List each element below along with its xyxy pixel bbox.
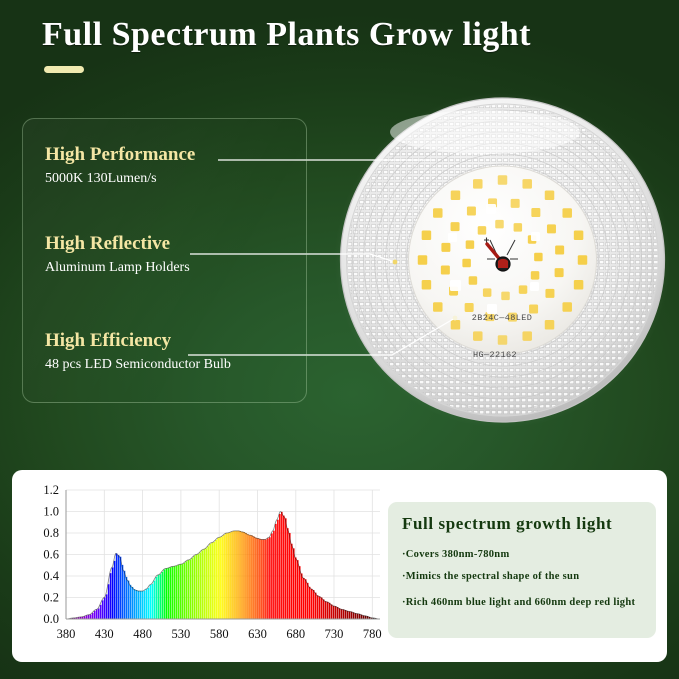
info-box-title: Full spectrum growth light (402, 514, 642, 534)
led-chip (522, 179, 532, 189)
led-chip (451, 222, 460, 231)
led-chip (545, 289, 554, 298)
feature-subtitle: Aluminum Lamp Holders (45, 260, 190, 275)
board-model-label: 2B24C—48LED (472, 313, 533, 323)
spectrum-chart: 0.00.20.40.60.81.01.23804304805305806306… (22, 478, 392, 653)
led-chip (555, 268, 564, 277)
led-chip (519, 285, 528, 294)
lamp-highlight (390, 110, 580, 154)
led-chip (514, 223, 523, 232)
led-chip (441, 243, 450, 252)
led-chip (473, 331, 483, 341)
led-chip (531, 208, 540, 217)
product-infographic: Full Spectrum Plants Grow light (0, 0, 679, 679)
y-axis-tick-label: 0.4 (43, 569, 59, 583)
led-chip (462, 259, 471, 268)
led-chip (422, 280, 432, 290)
info-bullet: ·Covers 380nm-780nm (402, 549, 642, 560)
y-axis-tick-label: 0.0 (43, 612, 59, 626)
led-chip (451, 320, 461, 330)
feature-item-efficiency: High Efficiency 48 pcs LED Semiconductor… (45, 331, 231, 372)
x-axis-tick-label: 630 (248, 627, 267, 641)
spectrum-chart-svg: 0.00.20.40.60.81.01.23804304805305806306… (22, 478, 392, 653)
led-chip (451, 191, 461, 201)
led-chip (547, 224, 556, 233)
y-axis-tick-label: 0.2 (43, 591, 59, 605)
feature-subtitle: 5000K 130Lumen/s (45, 171, 195, 186)
board-code-label: HG—22162 (473, 350, 517, 360)
led-chip (473, 179, 483, 189)
info-box: Full spectrum growth light ·Covers 380nm… (388, 502, 656, 638)
led-chip (433, 208, 443, 218)
led-chip (478, 226, 487, 235)
x-axis-tick-label: 380 (57, 627, 76, 641)
x-axis-tick-label: 530 (172, 627, 191, 641)
feature-title: High Performance (45, 145, 195, 166)
lamp-svg: 2B24C—48LED HG—22162 (335, 92, 670, 427)
led-chip (498, 175, 508, 185)
led-chip (495, 220, 504, 229)
info-bullet: ·Rich 460nm blue light and 660nm deep re… (402, 597, 642, 608)
feature-subtitle: 48 pcs LED Semiconductor Bulb (45, 357, 231, 372)
x-axis-tick-label: 730 (325, 627, 344, 641)
x-axis-tick-label: 580 (210, 627, 229, 641)
led-chip (531, 271, 540, 280)
led-chip (422, 231, 432, 241)
led-chip (433, 302, 443, 312)
feature-item-reflective: High Reflective Aluminum Lamp Holders (45, 234, 190, 275)
led-chip (545, 191, 555, 201)
led-chip (465, 303, 474, 312)
led-chip (522, 331, 532, 341)
led-chip (574, 280, 584, 290)
y-axis-tick-label: 1.2 (43, 483, 59, 497)
led-chip (467, 207, 476, 216)
y-axis-tick-label: 0.6 (43, 548, 59, 562)
led-chip (574, 231, 584, 241)
feature-title: High Efficiency (45, 331, 231, 352)
led-chip (483, 288, 492, 297)
feature-item-performance: High Performance 5000K 130Lumen/s (45, 145, 195, 186)
x-axis-tick-label: 680 (286, 627, 305, 641)
page-title: Full Spectrum Plants Grow light (42, 16, 531, 54)
led-chip (466, 240, 475, 249)
led-chip (562, 302, 572, 312)
led-chip (469, 276, 478, 285)
led-chip (441, 265, 450, 274)
lamp-product-image: 2B24C—48LED HG—22162 (335, 92, 670, 427)
info-bullet: ·Mimics the spectral shape of the sun (402, 571, 642, 582)
led-chip (418, 255, 428, 265)
led-chip (555, 246, 564, 255)
y-axis-tick-label: 0.8 (43, 526, 59, 540)
title-underline (44, 66, 84, 73)
led-chip (545, 320, 555, 330)
led-chip (498, 335, 508, 345)
led-chip (534, 253, 543, 261)
led-chip (562, 208, 572, 218)
led-chip (501, 292, 510, 301)
feature-panel: High Performance 5000K 130Lumen/s High R… (22, 118, 307, 403)
x-axis-tick-label: 780 (363, 627, 382, 641)
x-axis-tick-label: 480 (133, 627, 152, 641)
led-chip (511, 199, 520, 208)
led-chip (578, 255, 588, 265)
y-axis-tick-label: 1.0 (43, 505, 59, 519)
feature-title: High Reflective (45, 234, 190, 255)
header: Full Spectrum Plants Grow light (0, 0, 679, 92)
x-axis-tick-label: 430 (95, 627, 114, 641)
